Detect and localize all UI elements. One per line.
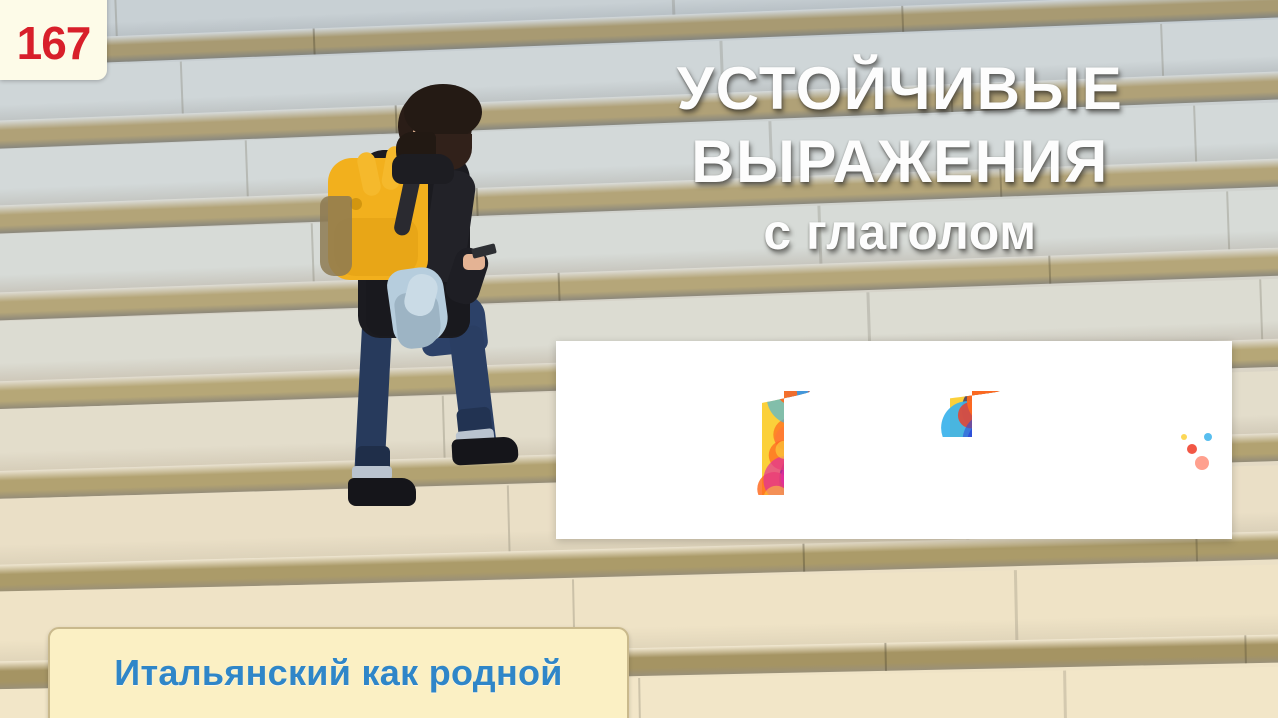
stone-seam [670, 0, 675, 15]
headline-block: УСТОЙЧИВЫЕ ВЫРАЖЕНИЯ с глаголом [600, 60, 1200, 257]
word-card [556, 341, 1232, 539]
letter-e [1037, 371, 1163, 520]
headline-line-1: УСТОЙЧИВЫЕ [600, 60, 1200, 119]
stone-seam [803, 544, 806, 572]
episode-number: 167 [17, 20, 91, 80]
letter-d [757, 368, 872, 511]
stone-seam [245, 140, 249, 196]
channel-banner-text: Итальянский как родной [114, 652, 562, 694]
man-figure [300, 78, 550, 518]
stone-seam [312, 28, 315, 54]
andare-wordmark [556, 341, 1232, 539]
stone-seam [180, 62, 184, 114]
headline-line-3: с глаголом [600, 208, 1200, 257]
letter-a [566, 375, 676, 525]
stone-seam [1014, 570, 1018, 640]
stone-seam [885, 643, 888, 671]
stone-seam [638, 678, 641, 718]
stone-seam [901, 6, 904, 32]
stone-seam [115, 0, 119, 36]
thumbnail-canvas: 167 УСТОЙЧИВЫЕ ВЫРАЖЕНИЯ с глаголом Итал… [0, 0, 1278, 718]
episode-number-badge: 167 [0, 0, 107, 80]
stone-seam [1063, 671, 1067, 718]
stone-seam [1245, 635, 1248, 663]
stone-seam [1048, 256, 1051, 284]
stone-seam [558, 273, 561, 301]
headline-line-2: ВЫРАЖЕНИЯ [600, 133, 1200, 192]
letter-r [941, 372, 1067, 523]
stone-seam [1259, 279, 1263, 339]
letter-a [841, 369, 964, 528]
stone-seam [1226, 191, 1230, 249]
channel-banner: Итальянский как родной [48, 627, 629, 718]
letter-n [651, 375, 774, 523]
